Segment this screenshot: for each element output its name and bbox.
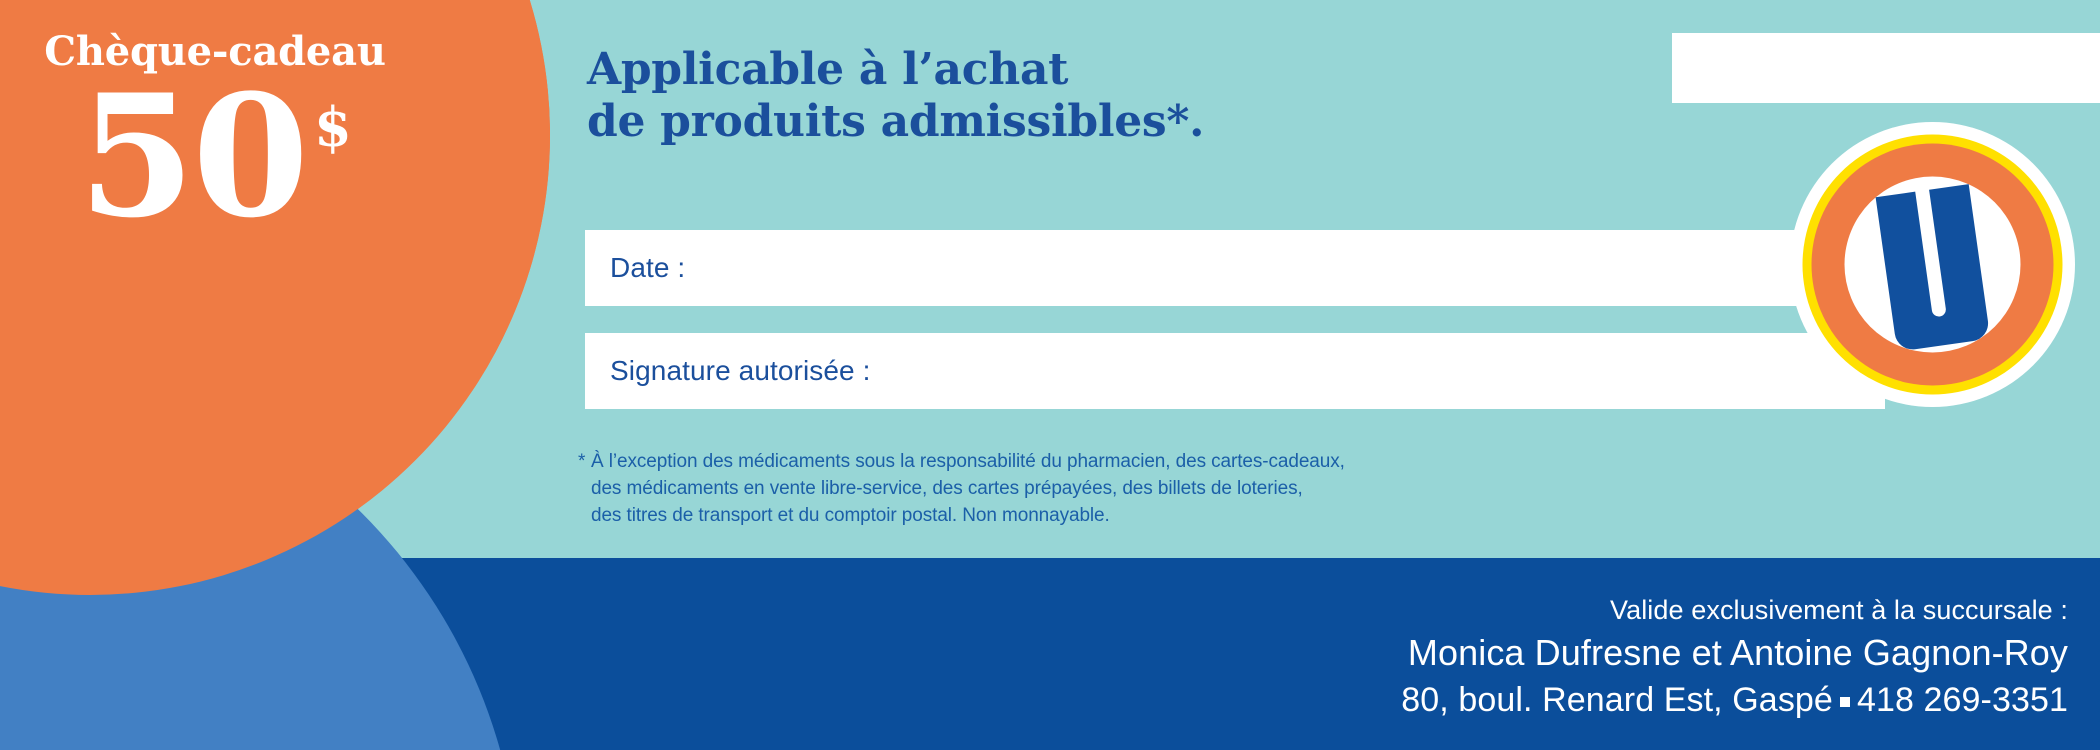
currency-symbol: $ xyxy=(314,100,352,154)
disclaimer-line-2: des médicaments en vente libre-service, … xyxy=(578,476,1345,503)
amount-panel: Chèque-cadeau 50 $ xyxy=(0,0,430,320)
date-field-label: Date : xyxy=(610,252,685,284)
disclaimer-text-3: des titres de transport et du comptoir p… xyxy=(591,505,1110,526)
branch-name: Monica Dufresne et Antoine Gagnon-Roy xyxy=(1401,630,2068,677)
branch-phone: 418 269-3351 xyxy=(1857,681,2068,719)
signature-field-label: Signature autorisée : xyxy=(610,355,871,387)
disclaimer-line-3: des titres de transport et du comptoir p… xyxy=(578,503,1345,530)
headline: Applicable à l’achat de produits admissi… xyxy=(587,44,1204,148)
date-field[interactable]: Date : xyxy=(585,230,1885,306)
blank-entry-box[interactable] xyxy=(1672,33,2100,103)
disclaimer: *À l’exception des médicaments sous la r… xyxy=(578,449,1345,530)
headline-line-1: Applicable à l’achat xyxy=(587,44,1204,96)
disclaimer-marker: * xyxy=(578,449,591,476)
separator-bullet-icon xyxy=(1840,697,1850,707)
signature-field[interactable]: Signature autorisée : xyxy=(585,333,1885,409)
disclaimer-text-1: À l’exception des médicaments sous la re… xyxy=(591,451,1345,472)
uniprix-logo-icon xyxy=(1790,122,2075,407)
footer-branch-info: Valide exclusivement à la succursale : M… xyxy=(1401,594,2068,722)
amount-value: 50 xyxy=(78,78,306,234)
disclaimer-line-1: *À l’exception des médicaments sous la r… xyxy=(578,449,1345,476)
gift-certificate: Chèque-cadeau 50 $ Applicable à l’achat … xyxy=(0,0,2100,750)
validity-label: Valide exclusivement à la succursale : xyxy=(1401,594,2068,627)
disclaimer-text-2: des médicaments en vente libre-service, … xyxy=(591,478,1303,499)
headline-line-2: de produits admissibles*. xyxy=(587,96,1204,148)
amount-row: 50 $ xyxy=(0,78,430,234)
branch-contact: 80, boul. Renard Est, Gaspé418 269-3351 xyxy=(1401,678,2068,722)
branch-address: 80, boul. Renard Est, Gaspé xyxy=(1401,681,1833,719)
